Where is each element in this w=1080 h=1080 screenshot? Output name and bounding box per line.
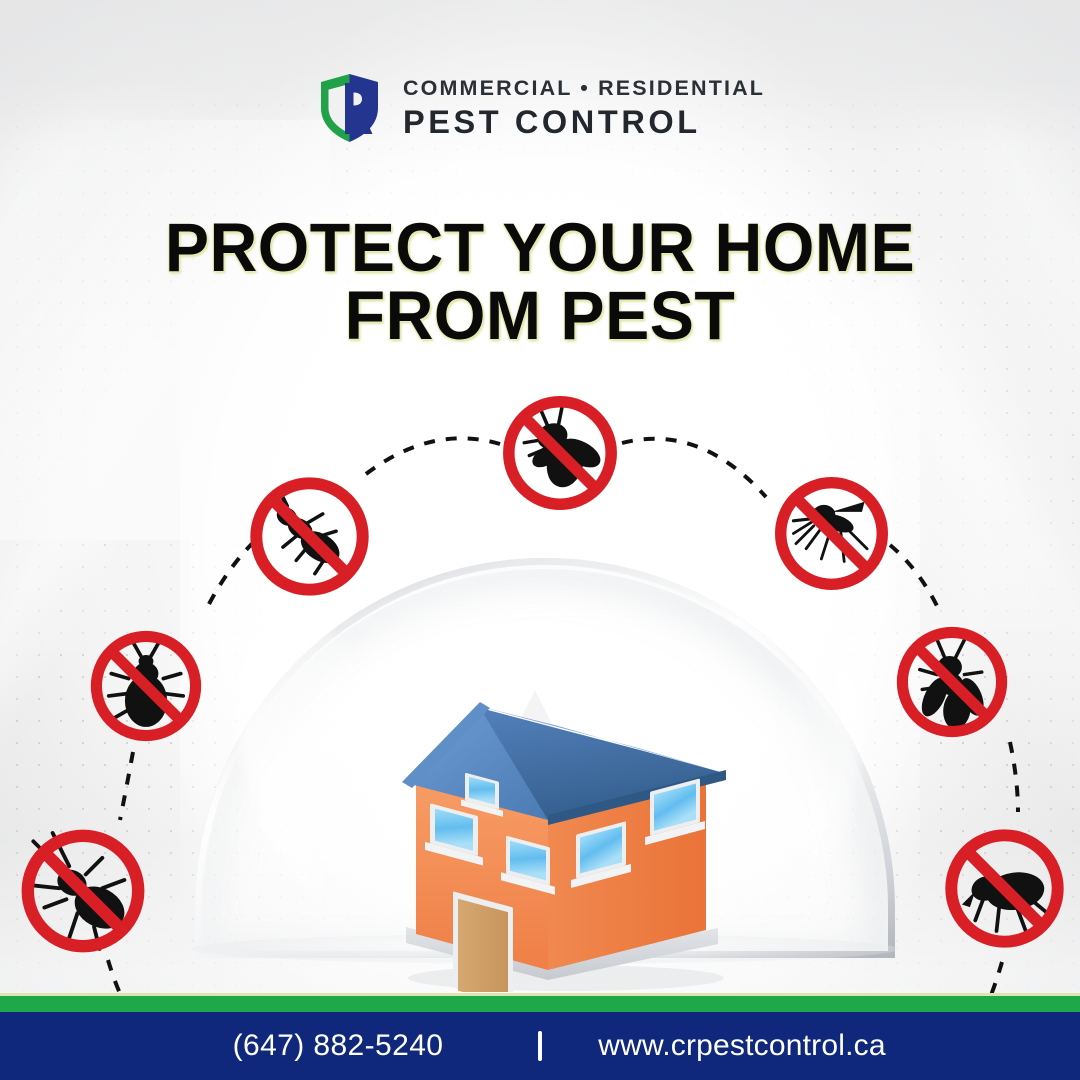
no-cockroach-icon: [14, 822, 152, 960]
no-mosquito-icon: [768, 470, 895, 597]
no-flea-icon: [938, 822, 1071, 955]
protected-house-illustration: [388, 672, 728, 992]
footer-website[interactable]: www.crpestcontrol.ca: [542, 1029, 942, 1063]
no-wasp-icon: [890, 620, 1014, 744]
footer-bar: (647) 882-5240 www.crpestcontrol.ca: [0, 1012, 1080, 1080]
no-fly-icon: [496, 389, 624, 517]
no-bedbug-icon: [84, 624, 208, 748]
no-termite-icon: [243, 470, 376, 603]
poster-canvas: COMMERCIAL • RESIDENTIAL PEST CONTROL PR…: [0, 0, 1080, 1080]
footer-phone[interactable]: (647) 882-5240: [138, 1029, 538, 1063]
footer-green-bar: [0, 996, 1080, 1012]
